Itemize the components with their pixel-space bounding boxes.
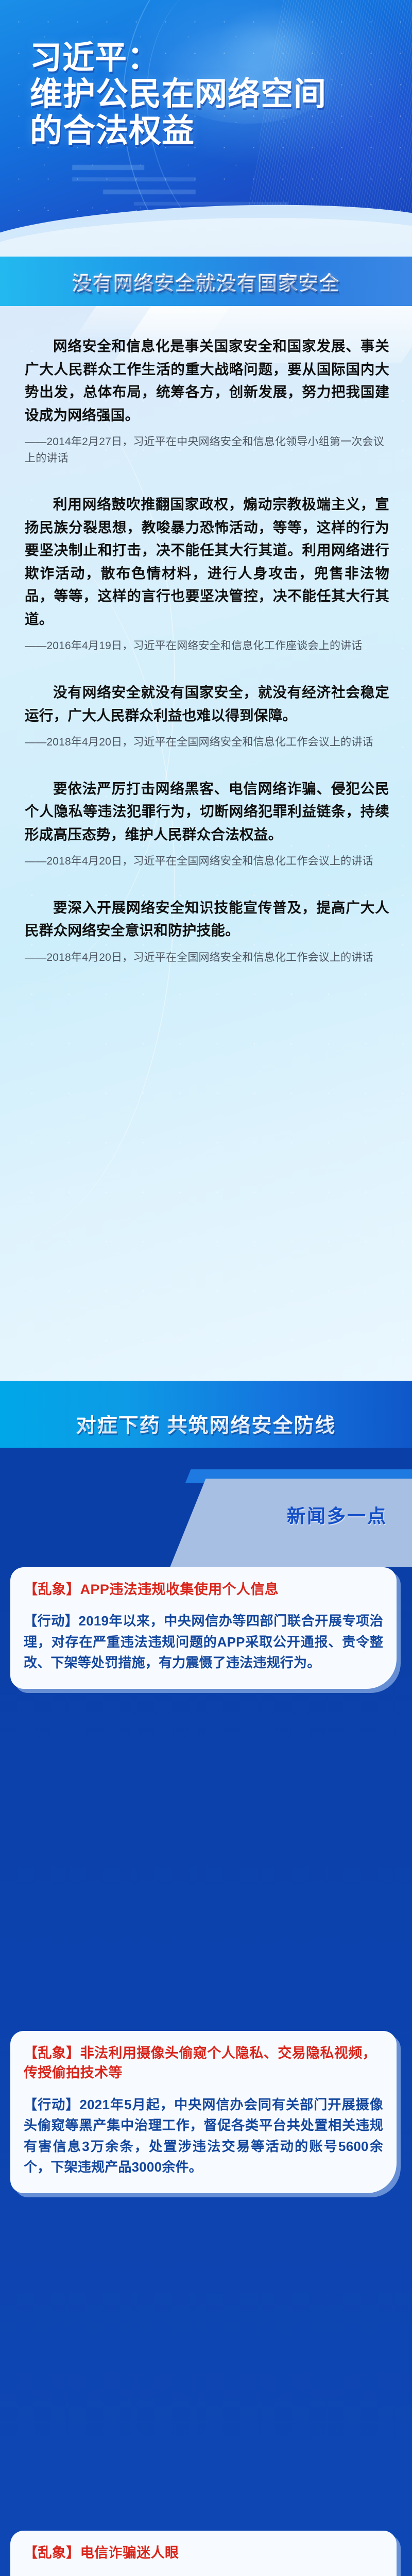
page-title-line-3: 的合法权益 [30,113,370,149]
quote-item: 网络安全和信息化是事关国家安全和国家发展、事关广大人民群众工作生活的重大战略问题… [25,335,389,466]
section-2-heading: 对症下药 共筑网络安全防线 [0,1410,412,1438]
quote-item: 要依法严厉打击网络黑客、电信网络诈骗、侵犯公民个人隐私等违法犯罪行为，切断网络犯… [25,777,389,870]
quote-text: 网络安全和信息化是事关国家安全和国家发展、事关广大人民群众工作生活的重大战略问题… [25,335,389,427]
chaos-headline: 【乱象】非法利用摄像头偷窥个人隐私、交易隐私视频，传授偷拍技术等 [24,2043,383,2083]
quote-text: 要依法严厉打击网络黑客、电信网络诈骗、侵犯公民个人隐私等违法犯罪行为，切断网络犯… [25,777,389,846]
section-2-heading-band: 对症下药 共筑网络安全防线 [0,1381,412,1479]
section-1-heading-band: 没有网络安全就没有国家安全 [0,257,412,306]
news-card[interactable]: 九连措施 珍爱生命 拒绝毒品 反诈骗！ 我们需要您的参与 防范“电信诈骗” 牢记… [10,2531,397,2576]
news-card-text: 【乱象】电信诈骗迷人眼 【行动】2022年9月2日，十三届全国人大常委会第三十六… [10,2531,397,2576]
action-body: 【行动】2021年5月起，中央网信办会同有关部门开展摄像头偷窥等黑产集中治理工作… [24,2094,383,2178]
quote-source: ——2016年4月19日，习近平在网络安全和信息化工作座谈会上的讲话 [25,638,389,654]
page-title-line-2: 维护公民在网络空间 [30,76,370,113]
news-card[interactable]: 【乱象】非法利用摄像头偷窥个人隐私、交易隐私视频，传授偷拍技术等 【行动】202… [10,2031,397,2193]
news-card-text: 【乱象】非法利用摄像头偷窥个人隐私、交易隐私视频，传授偷拍技术等 【行动】202… [10,2031,397,2193]
action-body: 【行动】2022年9月2日，十三届全国人大常委会第三十六次会议表决通过《中华人民… [24,2574,383,2576]
action-body: 【行动】2019年以来，中央网信办等四部门联合开展专项治理，对存在严重违法违规问… [24,1611,383,1673]
quote-source: ——2018年4月20日，习近平在全国网络安全和信息化工作会议上的讲话 [25,950,389,966]
quote-text: 利用网络鼓吹推翻国家政权，煽动宗教极端主义，宣扬民族分裂思想，教唆暴力恐怖活动，… [25,493,389,631]
quote-text: 没有网络安全就没有国家安全，就没有经济社会稳定运行，广大人民群众利益也难以得到保… [25,681,389,727]
news-cards-area: 网络安全 网络安全 为人民 靠人民 依法治网 依法办网 依法上网 【乱象】APP… [0,1567,412,2576]
quote-text: 要深入开展网络安全知识技能宣传普及，提高广大人民群众网络安全意识和防护技能。 [25,896,389,942]
chaos-headline: 【乱象】电信诈骗迷人眼 [24,2543,383,2563]
news-more-tag: 新闻多一点 [287,1501,387,1528]
quote-item: 要深入开展网络安全知识技能宣传普及，提高广大人民群众网络安全意识和防护技能。 —… [25,896,389,966]
news-card-text: 【乱象】APP违法违规收集使用个人信息 【行动】2019年以来，中央网信办等四部… [10,1567,397,1689]
quote-source: ——2014年2月27日，习近平在中央网络安全和信息化领导小组第一次会议上的讲话 [25,434,389,466]
quote-item: 没有网络安全就没有国家安全，就没有经济社会稳定运行，广大人民群众利益也难以得到保… [25,681,389,751]
section-1-heading: 没有网络安全就没有国家安全 [72,267,340,296]
quote-list: 网络安全和信息化是事关国家安全和国家发展、事关广大人民群众工作生活的重大战略问题… [25,335,389,965]
chaos-headline: 【乱象】APP违法违规收集使用个人信息 [24,1580,383,1599]
page-title-line-1: 习近平： [30,40,370,76]
page-title: 习近平： 维护公民在网络空间 的合法权益 [30,40,370,149]
quote-item: 利用网络鼓吹推翻国家政权，煽动宗教极端主义，宣扬民族分裂思想，教唆暴力恐怖活动，… [25,493,389,654]
quote-source: ——2018年4月20日，习近平在全国网络安全和信息化工作会议上的讲话 [25,734,389,751]
quote-source: ——2018年4月20日，习近平在全国网络安全和信息化工作会议上的讲话 [25,853,389,870]
news-tag-band: 新闻多一点 [0,1469,412,1567]
quotes-section: 网络安全和信息化是事关国家安全和国家发展、事关广大人民群众工作生活的重大战略问题… [0,306,412,1381]
news-card[interactable]: 网络安全 网络安全 为人民 靠人民 依法治网 依法办网 依法上网 【乱象】APP… [10,1567,397,1689]
